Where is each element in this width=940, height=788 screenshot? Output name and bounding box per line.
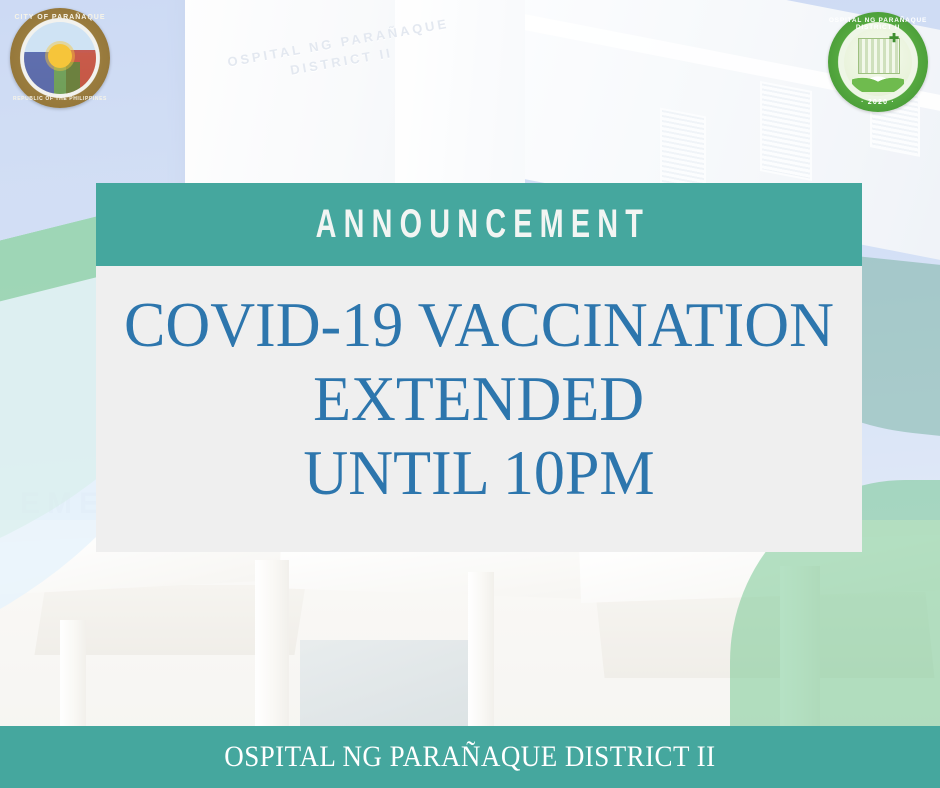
headline-line-2: EXTENDED: [313, 362, 644, 436]
hospital-seal-plant-icon: [852, 66, 904, 92]
announcement-poster: OSPITAL NG PARAÑAQUE DISTRICT II EME CIT…: [0, 0, 940, 788]
announcement-header-band: ANNOUNCEMENT: [96, 183, 862, 266]
hospital-seal-ring-top-text: OSPITAL NG PARAÑAQUE DISTRICT II: [828, 17, 928, 31]
footer-band: OSPITAL NG PARAÑAQUE DISTRICT II: [0, 726, 940, 788]
hospital-seal-icon: ✚ OSPITAL NG PARAÑAQUE DISTRICT II · 202…: [828, 12, 928, 112]
city-seal-ring: CITY OF PARAÑAQUE REPUBLIC OF THE PHILIP…: [10, 8, 110, 108]
hospital-seal-ring-bottom-text: · 2020 ·: [828, 99, 928, 106]
announcement-card: ANNOUNCEMENT COVID-19 VACCINATION EXTEND…: [96, 183, 862, 552]
organization-name: OSPITAL NG PARAÑAQUE DISTRICT II: [224, 740, 715, 774]
announcement-title: ANNOUNCEMENT: [308, 202, 650, 247]
medical-cross-icon: ✚: [889, 32, 901, 44]
city-seal-ring-bottom-text: REPUBLIC OF THE PHILIPPINES: [10, 96, 110, 102]
announcement-body: COVID-19 VACCINATION EXTENDED UNTIL 10PM: [96, 266, 862, 552]
city-seal-icon: CITY OF PARAÑAQUE REPUBLIC OF THE PHILIP…: [10, 8, 110, 108]
city-seal-ring-top-text: CITY OF PARAÑAQUE: [10, 14, 110, 21]
hospital-seal-emblem: ✚: [844, 28, 912, 96]
headline-line-1: COVID-19 VACCINATION: [124, 288, 834, 362]
headline-line-3: UNTIL 10PM: [303, 436, 654, 510]
